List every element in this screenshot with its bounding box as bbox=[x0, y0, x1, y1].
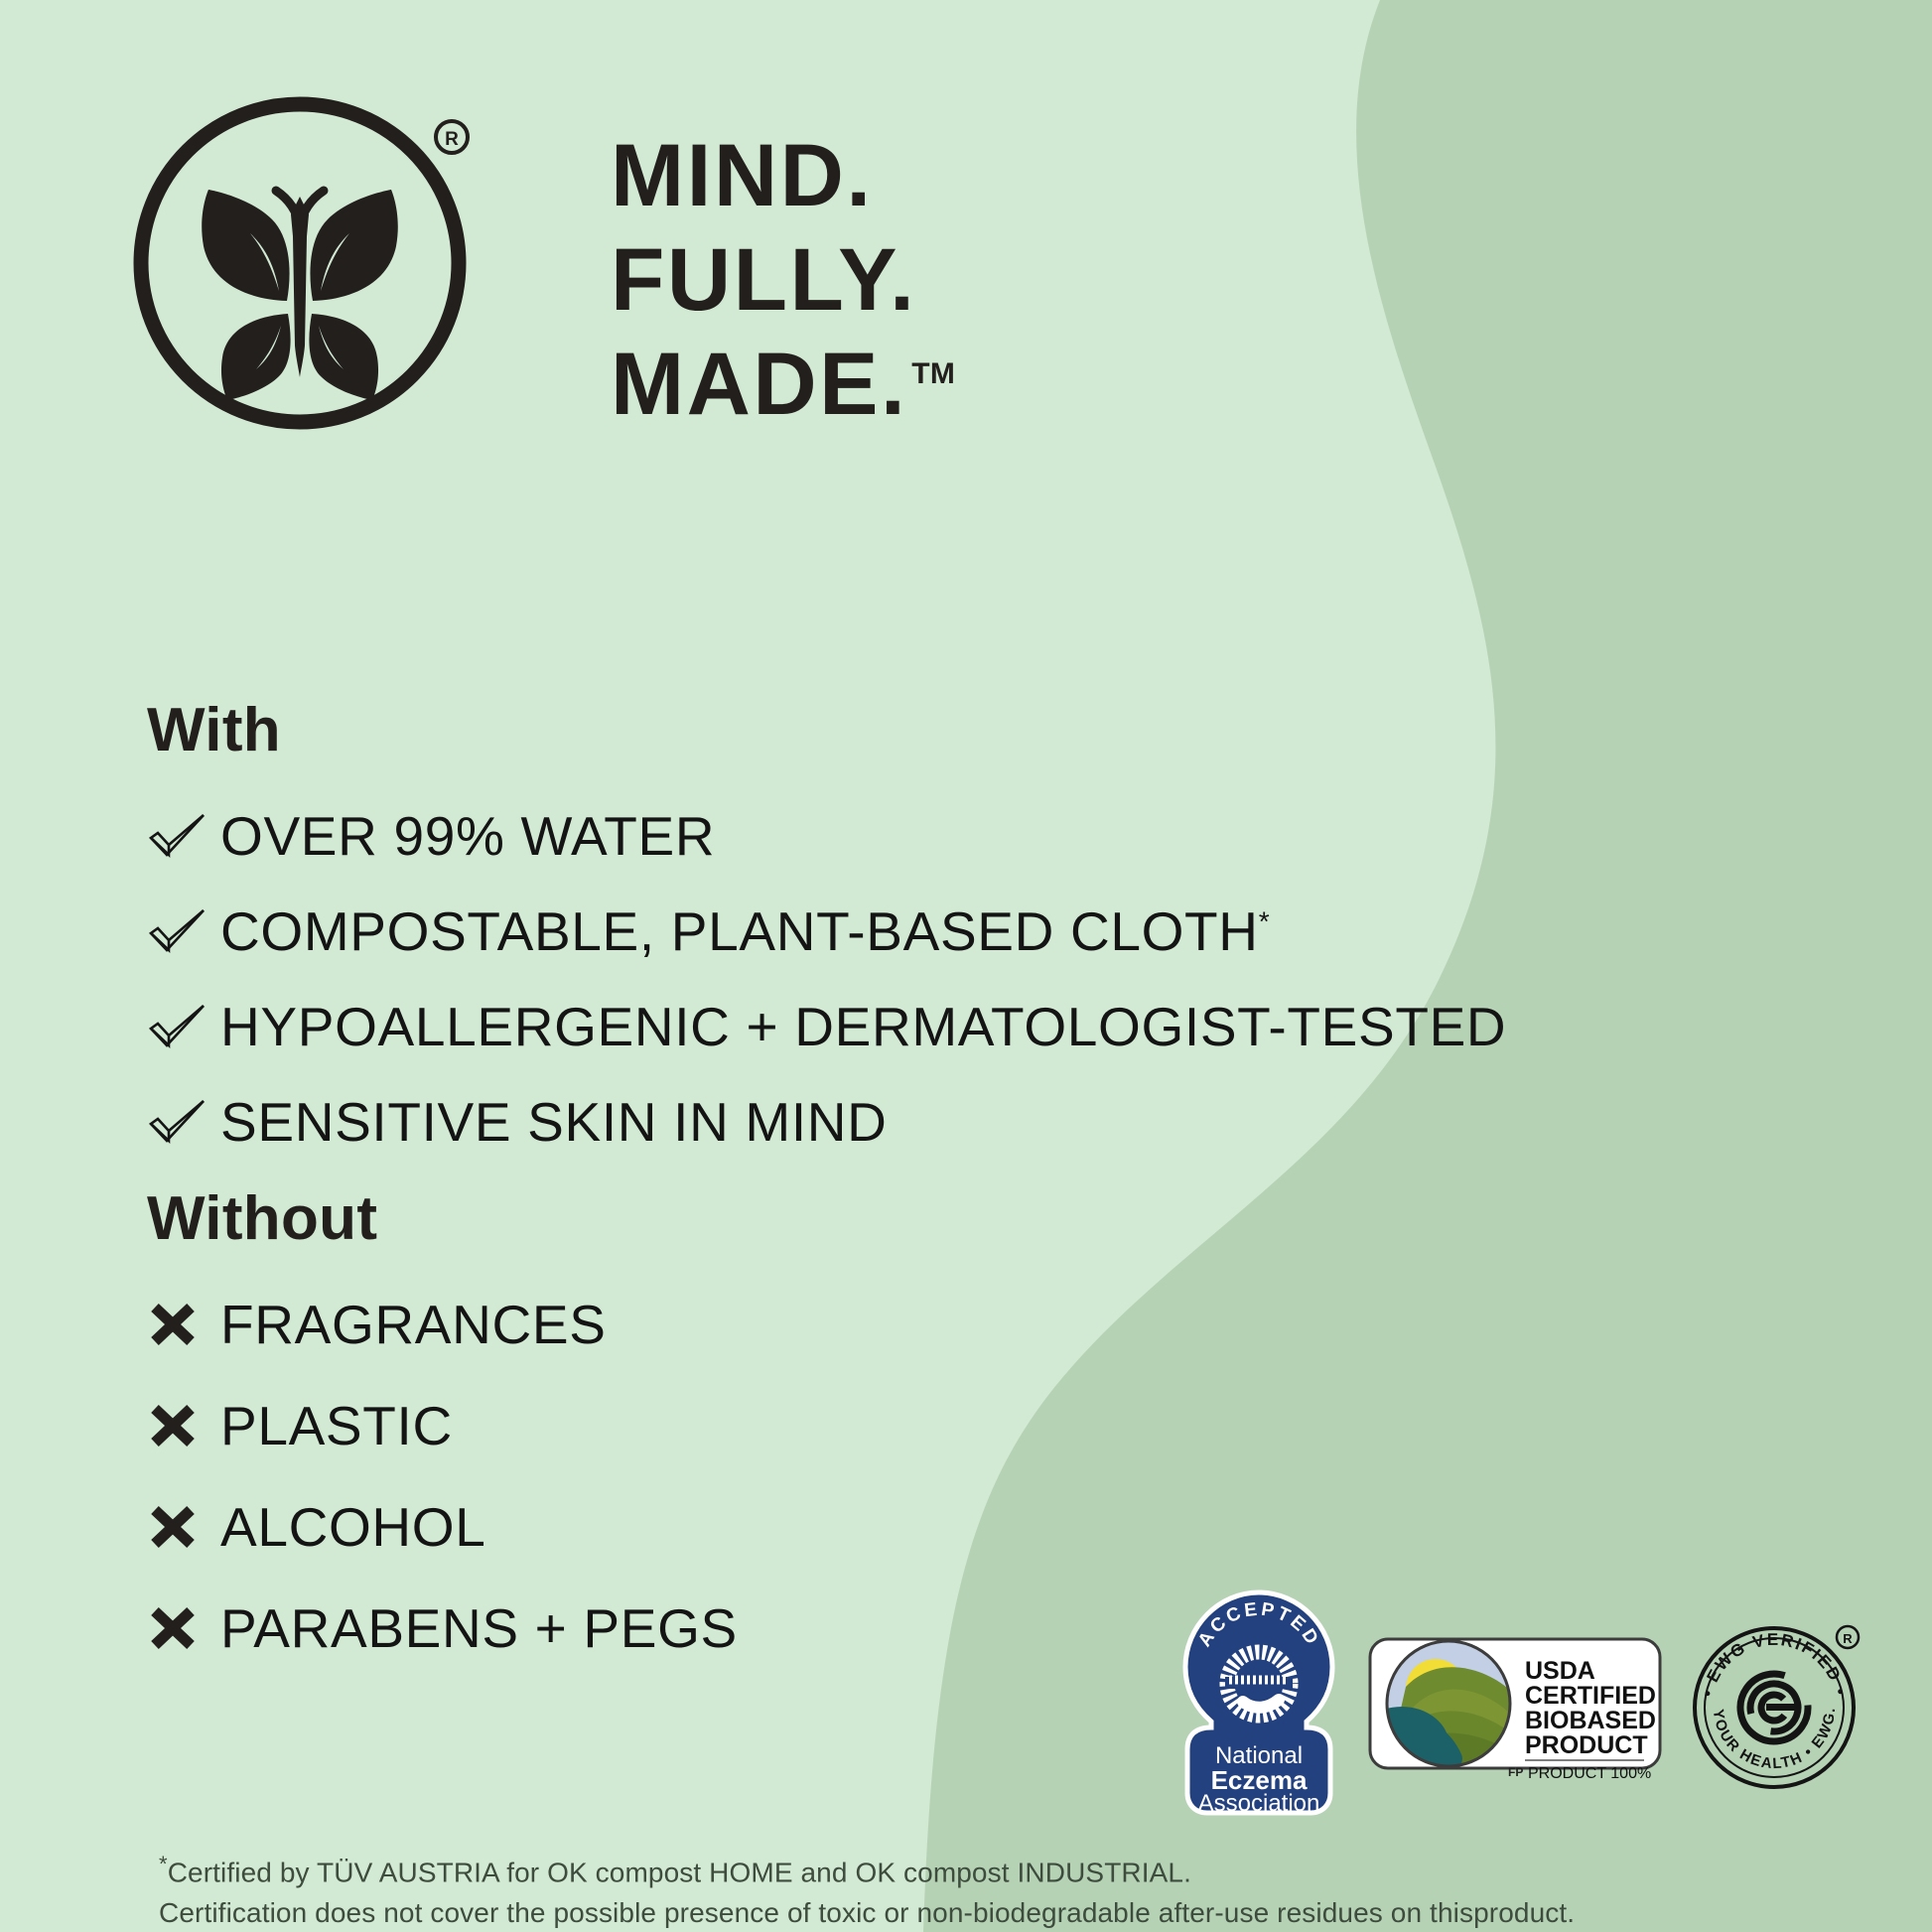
list-item: ALCOHOL bbox=[147, 1490, 738, 1564]
list-item: SENSITIVE SKIN IN MIND bbox=[147, 1085, 1506, 1159]
checkmark-outline-icon bbox=[147, 906, 220, 956]
svg-text:PRODUCT: PRODUCT bbox=[1525, 1731, 1648, 1759]
cross-x-icon bbox=[147, 1401, 220, 1450]
svg-text:CERTIFIED: CERTIFIED bbox=[1525, 1682, 1656, 1710]
list-item-label: ALCOHOL bbox=[220, 1495, 485, 1559]
with-item-2-text: HYPOALLERGENIC + DERMATOLOGIST-TESTED bbox=[220, 996, 1506, 1057]
list-item-label: SENSITIVE SKIN IN MIND bbox=[220, 1090, 888, 1154]
list-item: FRAGRANCES bbox=[147, 1288, 738, 1361]
svg-text:R: R bbox=[1843, 1631, 1853, 1646]
list-item-label: HYPOALLERGENIC + DERMATOLOGIST-TESTED bbox=[220, 995, 1506, 1058]
registered-trademark-icon: R bbox=[1837, 1626, 1859, 1648]
list-item: HYPOALLERGENIC + DERMATOLOGIST-TESTED bbox=[147, 990, 1506, 1063]
list-item-label: FRAGRANCES bbox=[220, 1293, 607, 1356]
svg-text:Association: Association bbox=[1198, 1790, 1320, 1817]
svg-text:PRODUCT 100%: PRODUCT 100% bbox=[1528, 1765, 1651, 1782]
with-section-title: With bbox=[147, 695, 1506, 765]
svg-text:BIOBASED: BIOBASED bbox=[1525, 1707, 1656, 1734]
wordmark-line-1: MIND. bbox=[611, 123, 955, 227]
footnote: *Certified by TÜV AUSTRIA for OK compost… bbox=[159, 1849, 1575, 1932]
footnote-asterisk: * bbox=[159, 1852, 168, 1876]
checkmark-outline-icon bbox=[147, 1002, 220, 1051]
list-item: OVER 99% WATER bbox=[147, 799, 1506, 873]
footnote-line-2: Certification does not cover the possibl… bbox=[159, 1892, 1575, 1932]
certification-badges: ACCEPTED National Eczema Association bbox=[1173, 1588, 1863, 1824]
without-section-title: Without bbox=[147, 1183, 738, 1254]
promo-card: R MIND. FULLY. MADE.TM With OVER 99% bbox=[0, 0, 1932, 1932]
svg-text:FP: FP bbox=[1508, 1765, 1523, 1779]
footnote-line-1-text: Certified by TÜV AUSTRIA for OK compost … bbox=[168, 1857, 1191, 1887]
footnote-marker: * bbox=[1259, 906, 1271, 937]
checkmark-outline-icon bbox=[147, 811, 220, 861]
butterfly-in-circle-logo: R bbox=[124, 87, 477, 440]
with-item-3-text: SENSITIVE SKIN IN MIND bbox=[220, 1091, 888, 1153]
list-item-label: PLASTIC bbox=[220, 1394, 453, 1457]
brand-wordmark: MIND. FULLY. MADE.TM bbox=[611, 123, 955, 436]
national-eczema-association-badge: ACCEPTED National Eczema Association bbox=[1173, 1588, 1344, 1824]
list-item: PARABENS + PEGS bbox=[147, 1591, 738, 1665]
svg-text:R: R bbox=[445, 129, 459, 150]
cross-x-icon bbox=[147, 1603, 220, 1653]
with-list: OVER 99% WATER COMPOSTABLE, PLANT-BASED … bbox=[147, 799, 1506, 1159]
usda-certified-biobased-product-badge: FP USDA CERTIFIED BIOBASED PRODUCT PRODU… bbox=[1366, 1615, 1664, 1797]
cross-x-icon bbox=[147, 1502, 220, 1552]
registered-trademark-icon: R bbox=[436, 121, 468, 153]
svg-text:USDA: USDA bbox=[1525, 1657, 1595, 1685]
list-item: COMPOSTABLE, PLANT-BASED CLOTH* bbox=[147, 895, 1506, 968]
wordmark-line-2: FULLY. bbox=[611, 227, 955, 332]
footnote-line-1: *Certified by TÜV AUSTRIA for OK compost… bbox=[159, 1849, 1575, 1892]
checkmark-outline-icon bbox=[147, 1097, 220, 1147]
without-section: Without FRAGRANCES PLASTIC bbox=[147, 1183, 738, 1693]
list-item-label: OVER 99% WATER bbox=[220, 804, 715, 868]
brand-logo-block: R MIND. FULLY. MADE.TM bbox=[124, 87, 955, 440]
with-item-0-text: OVER 99% WATER bbox=[220, 805, 715, 867]
ewg-verified-badge: • EWG VERIFIED • FOR YOUR HEALTH • EWG.O… bbox=[1686, 1615, 1863, 1797]
trademark-mark: TM bbox=[911, 357, 955, 390]
with-section: With OVER 99% WATER bbox=[147, 695, 1506, 1180]
list-item: PLASTIC bbox=[147, 1389, 738, 1462]
with-item-1-text: COMPOSTABLE, PLANT-BASED CLOTH bbox=[220, 900, 1259, 962]
wordmark-line-3: MADE.TM bbox=[611, 332, 955, 436]
cross-x-icon bbox=[147, 1300, 220, 1349]
list-item-label: COMPOSTABLE, PLANT-BASED CLOTH* bbox=[220, 899, 1270, 963]
svg-text:• EWG VERIFIED •: • EWG VERIFIED • bbox=[1698, 1630, 1851, 1699]
list-item-label: PARABENS + PEGS bbox=[220, 1596, 738, 1660]
without-list: FRAGRANCES PLASTIC ALCOHOL bbox=[147, 1288, 738, 1665]
wordmark-line-3-text: MADE. bbox=[611, 334, 907, 433]
